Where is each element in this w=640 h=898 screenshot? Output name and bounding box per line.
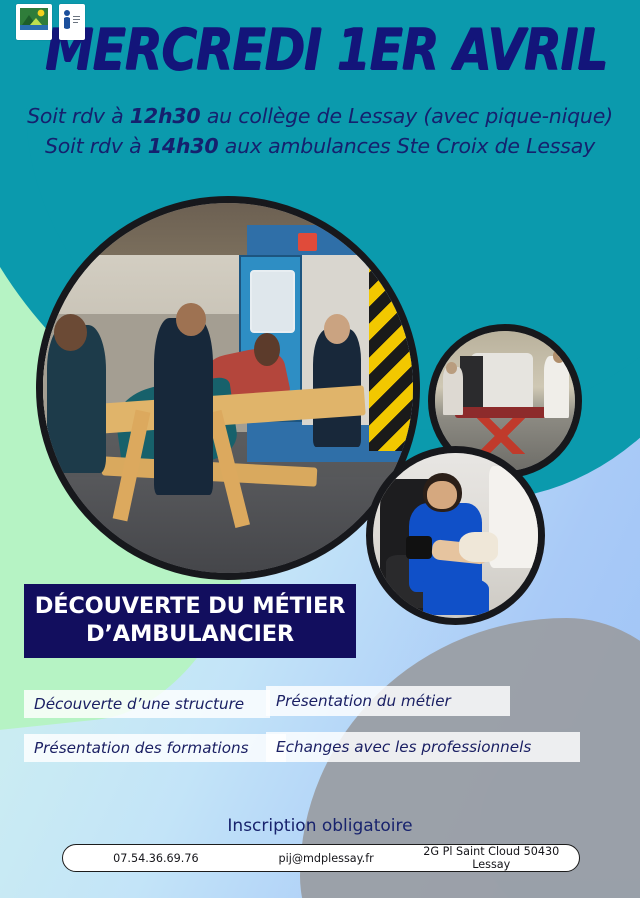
- program-item-presentation-metier: Présentation du métier: [266, 686, 510, 716]
- program-item-echanges-professionnels: Echanges avec les professionnels: [266, 732, 580, 762]
- rendezvous-line-1-time: 12h30: [130, 104, 201, 128]
- rendezvous-line-2: Soit rdv à 14h30 aux ambulances Ste Croi…: [0, 134, 640, 158]
- rendezvous-line-1-suffix: au collège de Lessay (avec pique-nique): [201, 104, 613, 128]
- photo-ambulance-stretcher: [36, 196, 420, 580]
- poster-root: MERCREDI 1ER AVRIL Soit rdv à 12h30 au c…: [0, 0, 640, 898]
- rendezvous-line-1: Soit rdv à 12h30 au collège de Lessay (a…: [0, 104, 640, 128]
- contact-phone[interactable]: 07.54.36.69.76: [63, 852, 249, 865]
- contact-email[interactable]: pij@mdplessay.fr: [249, 852, 404, 865]
- contact-address: 2G Pl Saint Cloud 50430 Lessay: [404, 845, 579, 871]
- rendezvous-line-2-prefix: Soit rdv à: [45, 134, 148, 158]
- rendezvous-line-1-prefix: Soit rdv à: [27, 104, 130, 128]
- logo-commune-lessay-icon: [16, 4, 52, 40]
- program-item-decouverte-structure: Découverte d’une structure: [24, 690, 270, 718]
- photo-blood-pressure: [366, 446, 545, 625]
- rendezvous-line-2-suffix: aux ambulances Ste Croix de Lessay: [218, 134, 595, 158]
- event-title-box: DÉCOUVERTE DU MÉTIER D’AMBULANCIER: [24, 584, 356, 658]
- logo-group: [16, 4, 85, 40]
- registration-notice: Inscription obligatoire: [0, 816, 640, 836]
- event-title-line-1: DÉCOUVERTE DU MÉTIER: [35, 593, 346, 621]
- photo-blood-pressure-content: [373, 453, 538, 618]
- photo-ambulance-stretcher-content: [43, 203, 413, 573]
- event-title-line-2: D’AMBULANCIER: [86, 621, 294, 649]
- rendezvous-line-2-time: 14h30: [148, 134, 219, 158]
- program-item-presentation-formations: Présentation des formations: [24, 734, 286, 762]
- poster-headline: MERCREDI 1ER AVRIL: [45, 22, 595, 79]
- contact-bar: 07.54.36.69.76 pij@mdplessay.fr 2G Pl Sa…: [62, 844, 580, 872]
- logo-maison-des-jeunes-icon: [59, 4, 85, 40]
